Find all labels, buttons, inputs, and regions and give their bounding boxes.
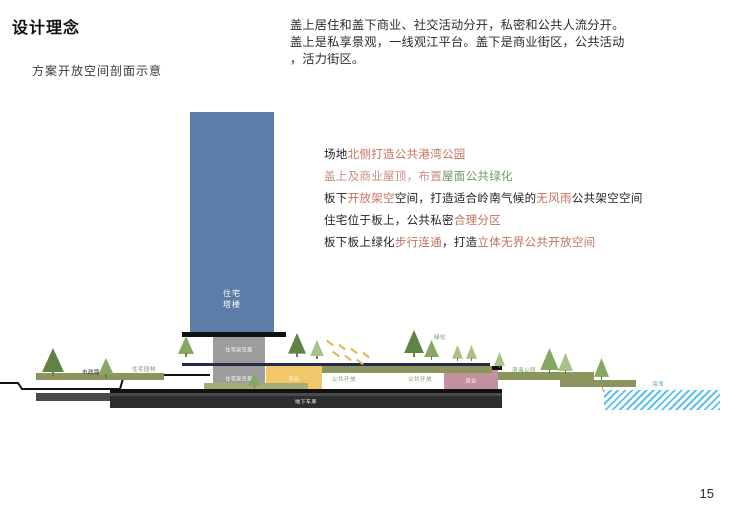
- tree-icon: [404, 330, 424, 357]
- sea-label: 海湾: [652, 380, 664, 388]
- rain-arrow-icon: [326, 340, 334, 347]
- rain-arrow-icon: [350, 348, 358, 355]
- tree-icon: [594, 358, 609, 380]
- roof-garden-deck-mid-2: [406, 366, 492, 373]
- tree-icon: [288, 333, 306, 357]
- tree-icon: [540, 348, 559, 374]
- page-number: 15: [700, 486, 714, 501]
- rain-arrow-icon: [344, 355, 352, 362]
- tree-icon: [558, 353, 573, 374]
- municipal-road-label: 市政路: [82, 368, 100, 376]
- tree-icon: [466, 345, 477, 361]
- underground-garage-label: 地下车库: [110, 399, 502, 406]
- tree-icon: [178, 336, 194, 357]
- tree-icon: [42, 348, 64, 376]
- tree-icon: [310, 340, 324, 359]
- commercial-box-label: 商业: [266, 376, 322, 383]
- residential-tower: 住宅 塔楼: [190, 112, 274, 332]
- waterfront-park-slope-deck: [560, 380, 636, 387]
- residential-tower-label: 住宅 塔楼: [190, 288, 274, 310]
- waterfront-park-label: 滨海公园: [512, 366, 536, 374]
- tower-label-line-2: 塔楼: [223, 300, 241, 309]
- header-description-line-3: ，活力街区。: [290, 51, 730, 68]
- section-diagram: 住宅 塔楼 住宅架空层 住宅架空层 商业 商业 地下车库: [0, 100, 740, 430]
- header-description-line-1: 盖上居住和盖下商业、社交活动分开，私密和公共人流分开。: [290, 17, 730, 34]
- sea-water: [604, 390, 720, 410]
- page-title: 设计理念: [12, 14, 80, 38]
- tree-icon: [248, 373, 260, 388]
- greening-label: 绿化: [434, 333, 446, 341]
- tree-icon: [494, 352, 505, 368]
- roof-garden-deck-mid-1: [322, 366, 406, 373]
- tower-label-line-1: 住宅: [223, 289, 241, 298]
- tree-icon: [452, 345, 463, 361]
- residential-garden-label: 住宅园林: [132, 365, 156, 373]
- tree-icon: [98, 358, 114, 378]
- residential-void-upper-label: 住宅架空层: [213, 347, 265, 354]
- rain-arrow-icon: [338, 344, 346, 351]
- page-subtitle: 方案开放空间剖面示意: [32, 62, 162, 79]
- header-description: 盖上居住和盖下商业、社交活动分开，私密和公共人流分开。 盖上是私享景观，一线观江…: [290, 17, 730, 68]
- rain-arrow-icon: [332, 351, 340, 358]
- underground-garage-band: 地下车库: [110, 396, 502, 408]
- public-open-label-1: 公共开放: [332, 375, 356, 383]
- retail-box-label: 商业: [444, 378, 498, 385]
- rain-arrow-icon: [362, 352, 370, 359]
- residential-void-upper-box: 住宅架空层: [213, 337, 265, 363]
- tree-icon: [424, 340, 439, 360]
- public-open-label-2: 公共开放: [408, 375, 432, 383]
- header-description-line-2: 盖上是私享景观，一线观江平台。盖下是商业街区，公共活动: [290, 34, 730, 51]
